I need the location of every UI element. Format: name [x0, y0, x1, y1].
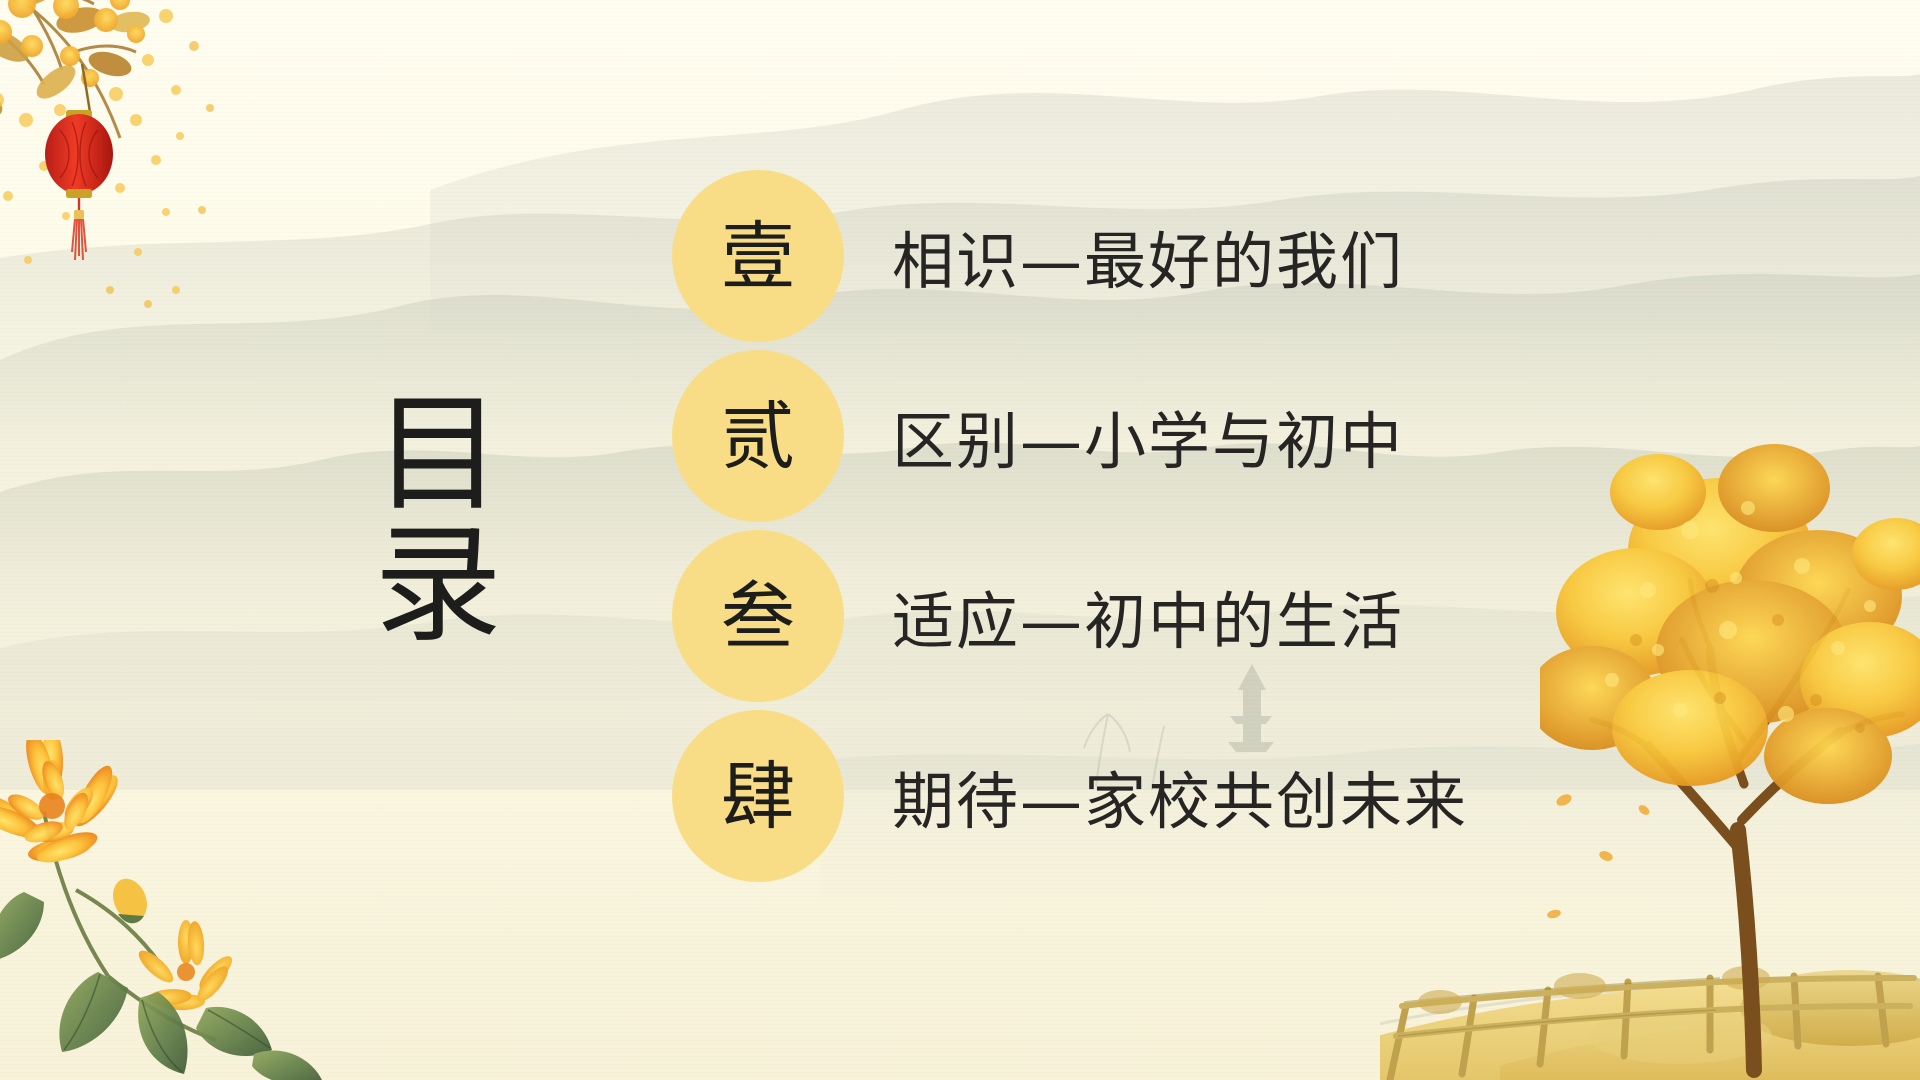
toc-number-4: 肆 — [721, 761, 795, 835]
toc-number-badge-3[interactable]: 叁 — [672, 530, 844, 702]
toc-item-2[interactable]: 贰 区别—小学与初中 — [672, 338, 1468, 534]
toc-item-1[interactable]: 壹 相识—最好的我们 — [672, 158, 1468, 354]
toc-number-3: 叁 — [721, 581, 795, 655]
toc-label-3: 适应—初中的生活 — [892, 571, 1404, 661]
title-char-2: 录 — [358, 521, 518, 652]
toc-number-badge-4[interactable]: 肆 — [672, 710, 844, 882]
toc-item-4[interactable]: 肆 期待—家校共创未来 — [672, 698, 1468, 894]
presentation-slide: 目 录 壹 相识—最好的我们 贰 区别—小学与初中 叁 适应—初中的生活 肆 — [0, 0, 1920, 1080]
toc-label-2: 区别—小学与初中 — [892, 391, 1404, 481]
toc-number-2: 贰 — [721, 401, 795, 475]
toc-item-3[interactable]: 叁 适应—初中的生活 — [672, 518, 1468, 714]
toc-label-1: 相识—最好的我们 — [892, 211, 1404, 301]
title-char-1: 目 — [358, 390, 518, 521]
toc-label-4: 期待—家校共创未来 — [892, 751, 1468, 841]
toc-number-1: 壹 — [721, 221, 795, 295]
toc-number-badge-1[interactable]: 壹 — [672, 170, 844, 342]
table-of-contents-list: 壹 相识—最好的我们 贰 区别—小学与初中 叁 适应—初中的生活 肆 期待—家校… — [672, 158, 1468, 894]
toc-number-badge-2[interactable]: 贰 — [672, 350, 844, 522]
page-title: 目 录 — [358, 390, 518, 651]
